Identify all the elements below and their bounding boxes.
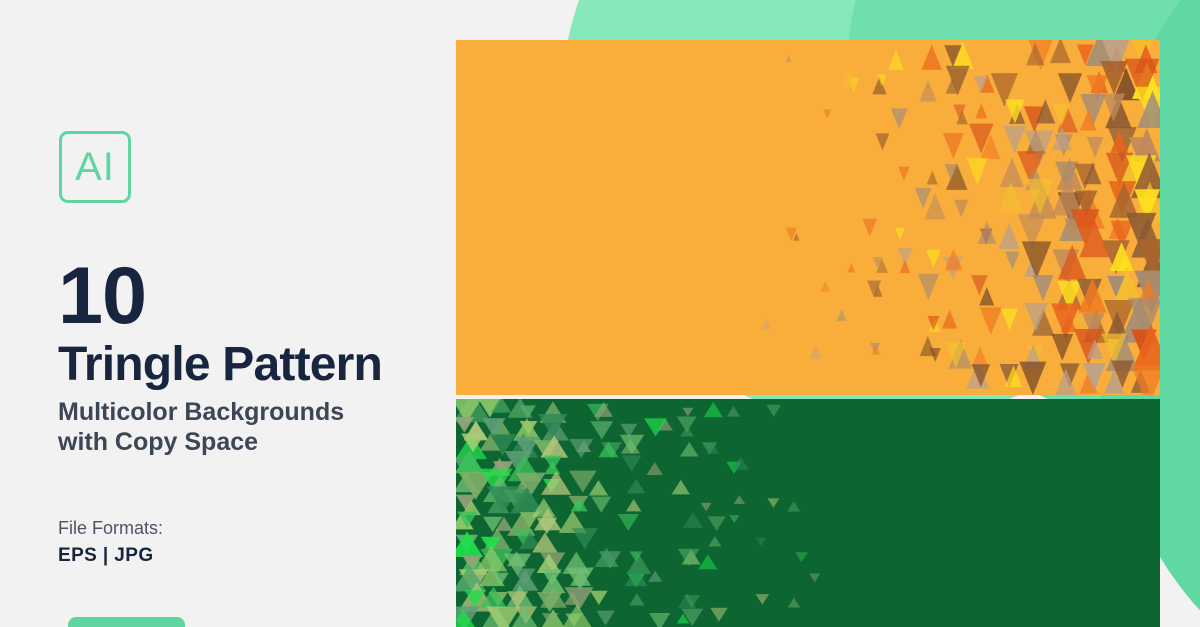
page-subtitle: Multicolor Backgrounds with Copy Space	[58, 397, 458, 458]
file-formats-label: File Formats:	[58, 517, 163, 540]
headline-block: 10 Tringle Pattern Multicolor Background…	[58, 258, 458, 458]
subtitle-line-1: Multicolor Backgrounds	[58, 398, 344, 426]
ai-badge-label: AI	[75, 147, 115, 187]
info-column: AI 10 Tringle Pattern Multicolor Backgro…	[0, 0, 456, 627]
preview-green-panel[interactable]	[456, 399, 1160, 627]
cta-button[interactable]	[68, 617, 185, 627]
preview-orange-panel[interactable]	[456, 40, 1160, 395]
pack-count: 10	[58, 258, 458, 335]
promo-banner: AI 10 Tringle Pattern Multicolor Backgro…	[0, 0, 1200, 627]
file-formats-block: File Formats: EPS | JPG	[58, 517, 163, 568]
ai-format-badge: AI	[59, 131, 131, 203]
green-triangle-mosaic	[456, 399, 1160, 627]
file-formats-value: EPS | JPG	[58, 544, 163, 569]
subtitle-line-2: with Copy Space	[58, 428, 258, 456]
orange-triangle-mosaic	[456, 40, 1160, 395]
page-title: Tringle Pattern	[58, 341, 458, 389]
